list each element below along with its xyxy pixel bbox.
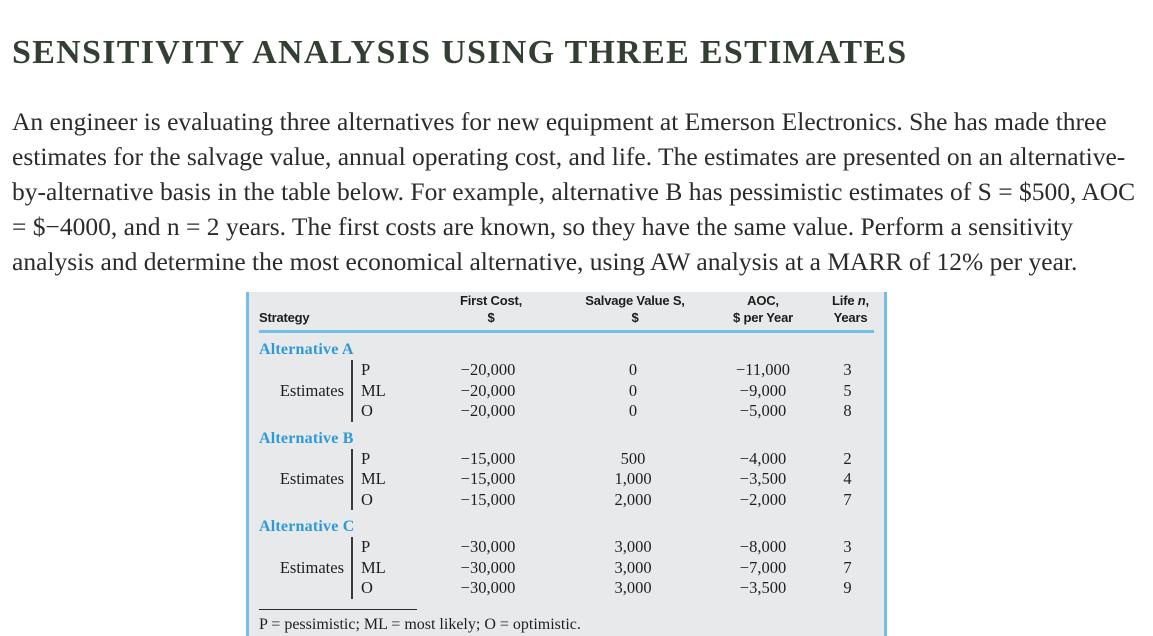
column-header-strategy-line2: Strategy bbox=[259, 309, 421, 326]
cell-first-cost: −30,000 bbox=[421, 558, 561, 579]
table-row: O−20,0000−5,0008 bbox=[249, 401, 884, 422]
cell-first-cost: −30,000 bbox=[421, 578, 561, 599]
estimates-label: Estimates bbox=[249, 558, 351, 578]
problem-statement-paragraph: An engineer is evaluating three alternat… bbox=[12, 104, 1140, 279]
cell-aoc: −2,000 bbox=[709, 490, 817, 511]
column-header-first-cost-line1: First Cost, bbox=[421, 292, 561, 309]
footnote-row: P = pessimistic; ML = most likely; O = o… bbox=[249, 613, 884, 634]
cell-first-cost: −15,000 bbox=[421, 490, 561, 511]
column-header-salvage-value-line1: Salvage Value S, bbox=[561, 292, 709, 309]
table-row: P−15,000500−4,0002 bbox=[249, 449, 884, 470]
page-title: SENSITIVITY ANALYSIS USING THREE ESTIMAT… bbox=[12, 31, 908, 75]
estimates-label: Estimates bbox=[249, 469, 351, 489]
cell-aoc: −8,000 bbox=[709, 537, 817, 558]
table-row: EstimatesML−15,0001,000−3,5004 bbox=[249, 469, 884, 490]
cell-salvage-value: 3,000 bbox=[561, 558, 709, 579]
estimate-code: ML bbox=[353, 381, 386, 401]
cell-aoc: −3,500 bbox=[709, 578, 817, 599]
column-header-salvage-value: Salvage Value S, $ bbox=[561, 292, 709, 330]
table-body: Alternative AP−20,0000−11,0003EstimatesM… bbox=[249, 333, 884, 634]
estimate-strategy-cell: EstimatesML bbox=[249, 469, 421, 490]
cell-aoc: −3,500 bbox=[709, 469, 817, 490]
cell-aoc: −9,000 bbox=[709, 381, 817, 402]
cell-aoc: −4,000 bbox=[709, 449, 817, 470]
estimate-strategy-cell: O bbox=[249, 401, 421, 422]
cell-first-cost: −30,000 bbox=[421, 537, 561, 558]
estimate-code: P bbox=[353, 449, 370, 469]
estimate-code: ML bbox=[353, 558, 386, 578]
cell-first-cost: −15,000 bbox=[421, 449, 561, 470]
cell-salvage-value: 1,000 bbox=[561, 469, 709, 490]
estimates-table: Strategy First Cost, $ Salvage Value S, … bbox=[249, 292, 884, 634]
cell-first-cost: −20,000 bbox=[421, 381, 561, 402]
cell-life: 3 bbox=[817, 360, 884, 381]
footnote-divider bbox=[249, 599, 884, 613]
alternative-group-heading: Alternative B bbox=[249, 422, 884, 449]
cell-first-cost: −15,000 bbox=[421, 469, 561, 490]
estimate-strategy-cell: O bbox=[249, 578, 421, 599]
table-row: O−30,0003,000−3,5009 bbox=[249, 578, 884, 599]
column-header-first-cost-line2: $ bbox=[421, 309, 561, 326]
table-header-row: Strategy First Cost, $ Salvage Value S, … bbox=[249, 292, 884, 330]
cell-life: 5 bbox=[817, 381, 884, 402]
cell-life: 9 bbox=[817, 578, 884, 599]
cell-life: 7 bbox=[817, 558, 884, 579]
table-row: EstimatesML−20,0000−9,0005 bbox=[249, 381, 884, 402]
column-header-life-line1: Life n, bbox=[817, 292, 884, 309]
estimate-code: O bbox=[353, 578, 373, 598]
cell-life: 8 bbox=[817, 401, 884, 422]
footnote-text: P = pessimistic; ML = most likely; O = o… bbox=[249, 613, 884, 634]
estimate-code: ML bbox=[353, 469, 386, 489]
cell-salvage-value: 0 bbox=[561, 401, 709, 422]
alternative-group-heading-row: Alternative C bbox=[249, 510, 884, 537]
column-header-aoc-line2: $ per Year bbox=[709, 309, 817, 326]
cell-salvage-value: 3,000 bbox=[561, 578, 709, 599]
column-header-life-line2: Years bbox=[817, 309, 884, 326]
table-row: O−15,0002,000−2,0007 bbox=[249, 490, 884, 511]
estimates-table-panel: Strategy First Cost, $ Salvage Value S, … bbox=[246, 292, 887, 636]
column-header-aoc: AOC, $ per Year bbox=[709, 292, 817, 330]
table-row: EstimatesML−30,0003,000−7,0007 bbox=[249, 558, 884, 579]
estimate-strategy-cell: EstimatesML bbox=[249, 558, 421, 579]
cell-salvage-value: 2,000 bbox=[561, 490, 709, 511]
alternative-group-heading: Alternative A bbox=[249, 333, 884, 360]
column-header-strategy: Strategy bbox=[249, 292, 421, 330]
column-header-salvage-value-line2: $ bbox=[561, 309, 709, 326]
estimate-code: P bbox=[353, 360, 370, 380]
alternative-group-heading-row: Alternative A bbox=[249, 333, 884, 360]
cell-life: 2 bbox=[817, 449, 884, 470]
column-header-first-cost: First Cost, $ bbox=[421, 292, 561, 330]
cell-salvage-value: 0 bbox=[561, 360, 709, 381]
cell-life: 7 bbox=[817, 490, 884, 511]
table-row: P−30,0003,000−8,0003 bbox=[249, 537, 884, 558]
table-header: Strategy First Cost, $ Salvage Value S, … bbox=[249, 292, 884, 333]
cell-life: 4 bbox=[817, 469, 884, 490]
estimates-label: Estimates bbox=[249, 381, 351, 401]
alternative-group-heading-row: Alternative B bbox=[249, 422, 884, 449]
cell-first-cost: −20,000 bbox=[421, 360, 561, 381]
estimate-strategy-cell: O bbox=[249, 490, 421, 511]
alternative-group-heading: Alternative C bbox=[249, 510, 884, 537]
estimate-code: O bbox=[353, 401, 373, 421]
cell-salvage-value: 3,000 bbox=[561, 537, 709, 558]
cell-salvage-value: 500 bbox=[561, 449, 709, 470]
cell-aoc: −11,000 bbox=[709, 360, 817, 381]
cell-salvage-value: 0 bbox=[561, 381, 709, 402]
cell-life: 3 bbox=[817, 537, 884, 558]
estimate-strategy-cell: P bbox=[249, 449, 421, 470]
estimate-strategy-cell: P bbox=[249, 537, 421, 558]
cell-aoc: −5,000 bbox=[709, 401, 817, 422]
footnote-rule-row bbox=[249, 599, 884, 613]
cell-aoc: −7,000 bbox=[709, 558, 817, 579]
estimate-code: P bbox=[353, 537, 370, 557]
estimate-strategy-cell: P bbox=[249, 360, 421, 381]
column-header-life: Life n, Years bbox=[817, 292, 884, 330]
estimate-strategy-cell: EstimatesML bbox=[249, 381, 421, 402]
column-header-aoc-line1: AOC, bbox=[709, 292, 817, 309]
cell-first-cost: −20,000 bbox=[421, 401, 561, 422]
estimate-code: O bbox=[353, 490, 373, 510]
table-row: P−20,0000−11,0003 bbox=[249, 360, 884, 381]
